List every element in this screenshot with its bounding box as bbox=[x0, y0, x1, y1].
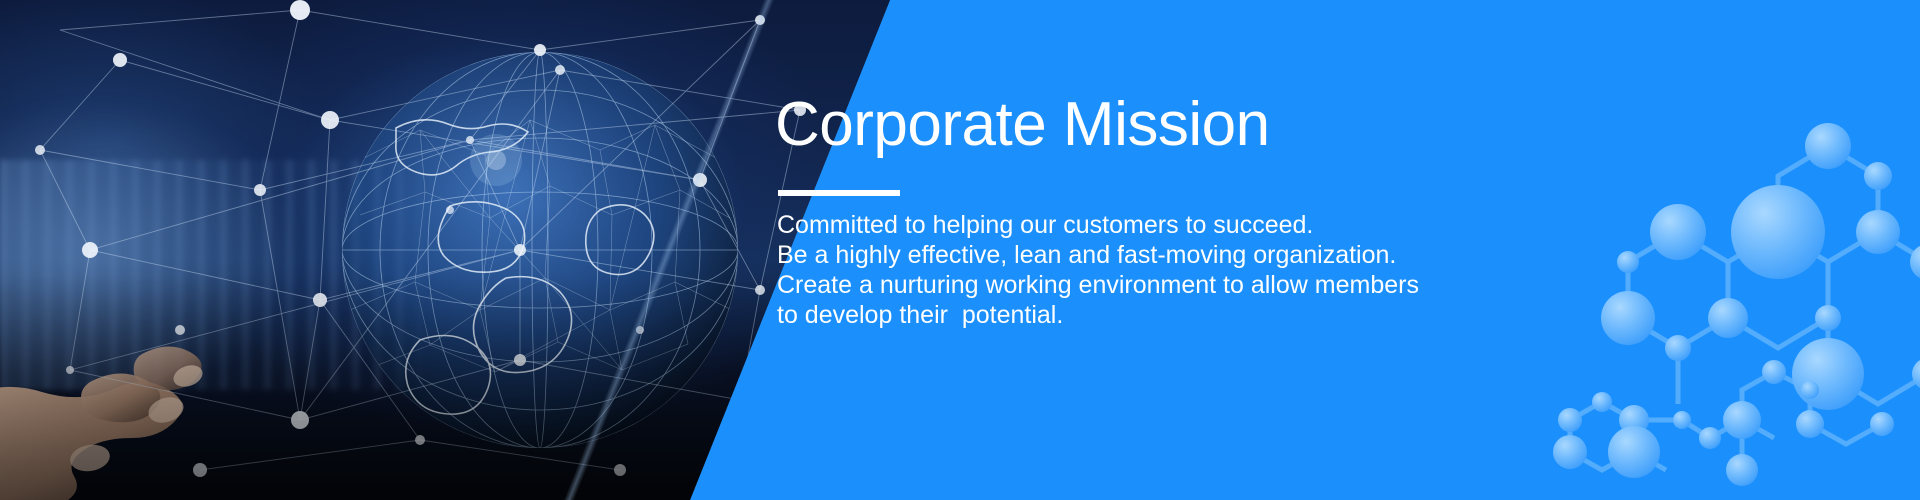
mission-line-1: Committed to helping our customers to su… bbox=[777, 210, 1397, 240]
mission-line-2: Be a highly effective, lean and fast-mov… bbox=[777, 240, 1397, 270]
content-block: Corporate Mission Committed to helping o… bbox=[775, 0, 1475, 500]
mission-line-4: to develop their potential. bbox=[777, 300, 1397, 330]
corporate-mission-banner: Corporate Mission Committed to helping o… bbox=[0, 0, 1920, 500]
title-divider bbox=[778, 190, 900, 196]
page-title: Corporate Mission bbox=[775, 92, 1270, 157]
mission-statement: Committed to helping our customers to su… bbox=[777, 210, 1397, 330]
mission-line-3: Create a nurturing working environment t… bbox=[777, 270, 1397, 300]
